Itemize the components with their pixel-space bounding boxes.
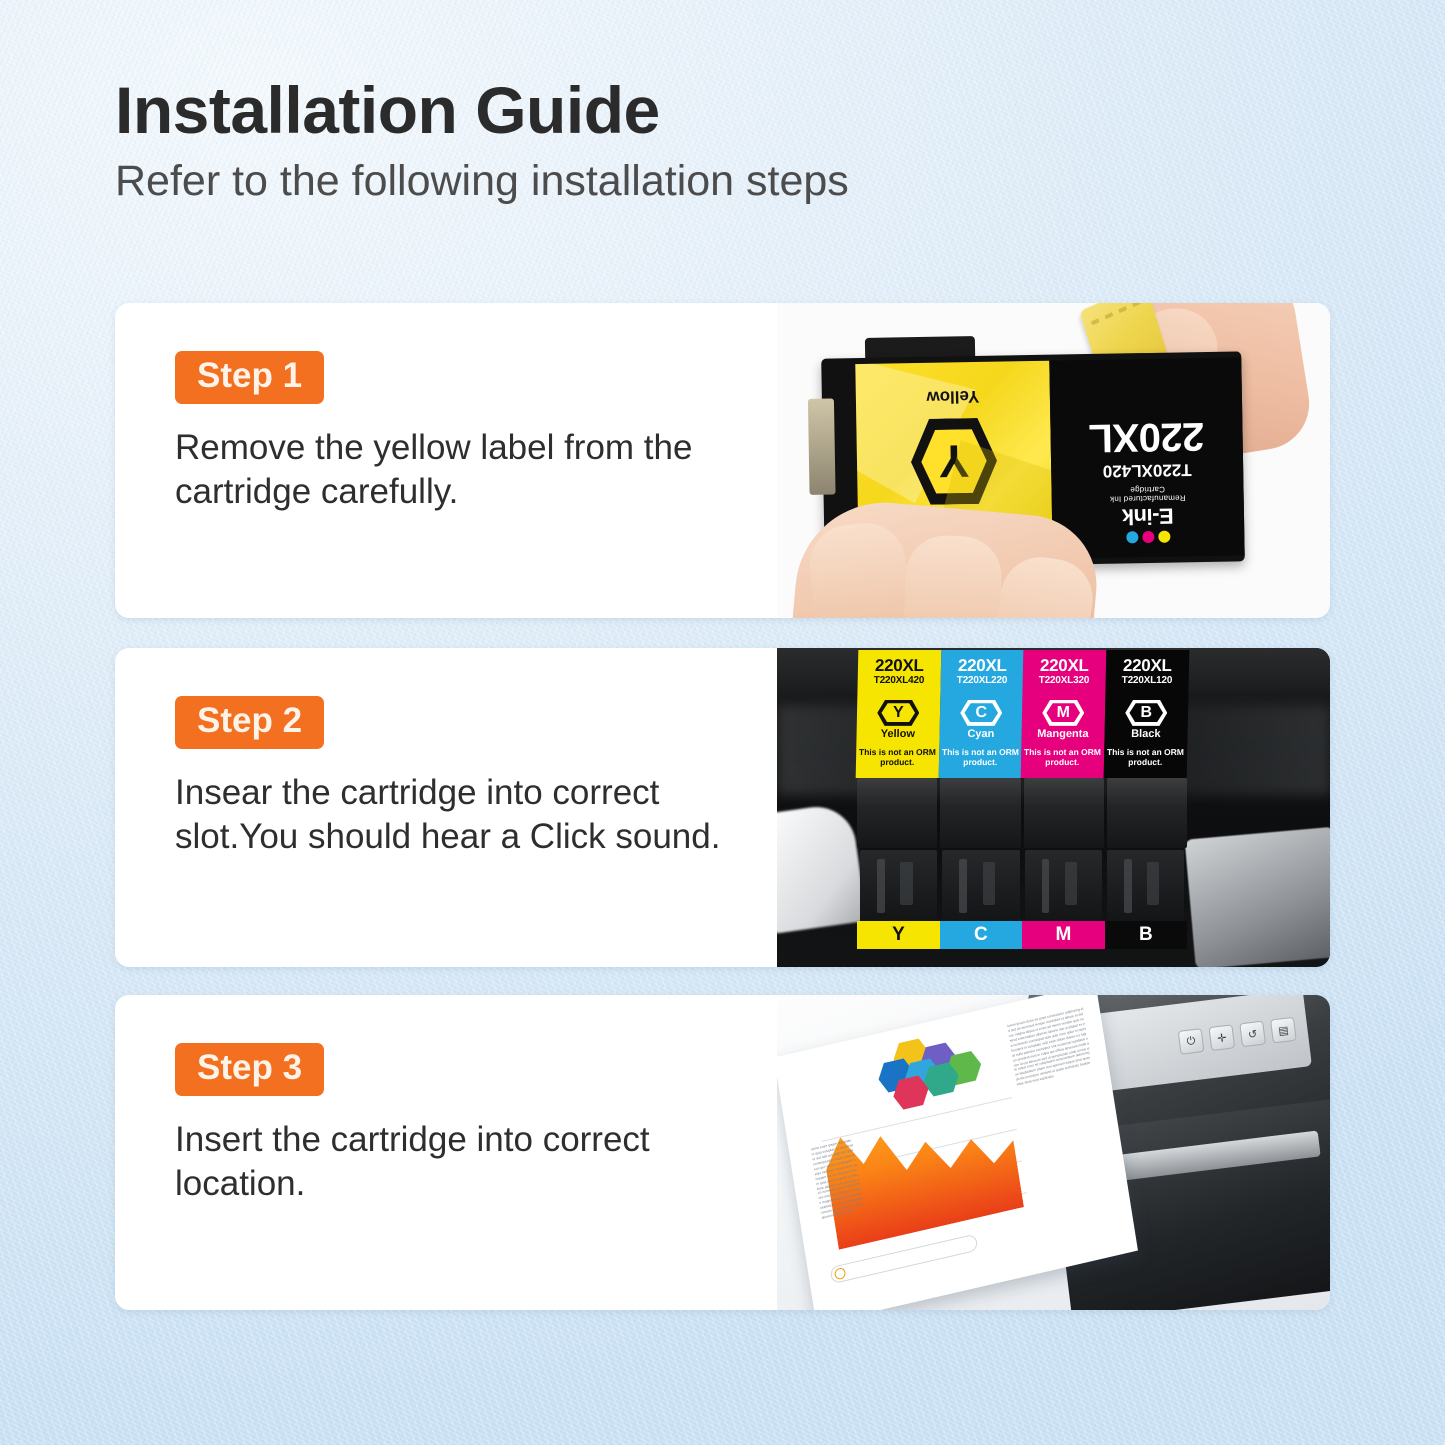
finger-icon bbox=[903, 534, 1003, 618]
color-hexagon-cluster-icon bbox=[866, 1024, 993, 1112]
step-card-1: Step 1 Remove the yellow label from the … bbox=[115, 303, 1330, 618]
installation-guide-page: Installation Guide Refer to the followin… bbox=[0, 0, 1445, 1445]
menu-icon[interactable]: ▤ bbox=[1270, 1017, 1297, 1044]
cartridge-part-number: T220XL120 bbox=[1105, 675, 1188, 686]
cartridge-color-letter: Y bbox=[921, 429, 987, 494]
cartridge-brand-name: E-ink bbox=[1100, 502, 1196, 530]
step-2-badge: Step 2 bbox=[175, 696, 324, 749]
cartridge-color-letter: B bbox=[1129, 703, 1163, 722]
cartridge-part-number: T220XL420 bbox=[858, 675, 941, 686]
cartridge-notice: This is not an ORM product. bbox=[1104, 747, 1187, 767]
cartridge-bodies-row bbox=[857, 778, 1187, 848]
cartridge-body bbox=[940, 778, 1020, 848]
navigation-pad-icon[interactable]: ✛ bbox=[1208, 1024, 1235, 1051]
cartridge-brand-tagline: Remanufactured Ink Cartridge bbox=[1100, 484, 1196, 504]
cartridge-chip-icon bbox=[808, 398, 836, 494]
page-title: Installation Guide bbox=[115, 76, 1215, 146]
slot-marker-black: B bbox=[1105, 921, 1188, 949]
cartridge-label-black: 220XL T220XL120 B Black This is not an O… bbox=[1103, 650, 1188, 778]
cartridge-color-name: Cyan bbox=[939, 728, 1022, 740]
step-3-description: Insert the cartridge into correct locati… bbox=[175, 1118, 733, 1206]
step-3-text-panel: Step 3 Insert the cartridge into correct… bbox=[115, 995, 777, 1310]
cartridge-model: 220XL bbox=[1105, 657, 1188, 675]
cartridge-model-block: T220XL420 220XL bbox=[1089, 416, 1205, 481]
cartridge-brand-block: E-ink Remanufactured Ink Cartridge bbox=[1100, 484, 1197, 544]
cartridge-body bbox=[857, 778, 937, 848]
cartridge-color-name: Black bbox=[1104, 728, 1187, 740]
cartridge-black-label: T220XL420 220XL E-ink Remanufactured Ink… bbox=[1049, 357, 1244, 558]
cartridge-label-row: 220XL T220XL420 Y Yellow This is not an … bbox=[857, 650, 1187, 778]
cartridge-color-letter: M bbox=[1046, 703, 1080, 722]
slot-marker-row: Y C M B bbox=[857, 921, 1187, 949]
cartridge-body bbox=[1107, 778, 1187, 848]
printer-metal-rail bbox=[1185, 827, 1330, 967]
black-hexagon-icon: B bbox=[1125, 700, 1168, 726]
cartridge-part-number: T220XL220 bbox=[940, 675, 1023, 686]
step-1-text-panel: Step 1 Remove the yellow label from the … bbox=[115, 303, 777, 618]
step-1-description: Remove the yellow label from the cartrid… bbox=[175, 426, 733, 514]
cartridge-label-yellow: 220XL T220XL420 Y Yellow This is not an … bbox=[856, 650, 941, 778]
cartridge-label-cyan: 220XL T220XL220 C Cyan This is not an OR… bbox=[938, 650, 1023, 778]
cartridge-model: 220XL bbox=[858, 657, 941, 675]
page-subtitle: Refer to the following installation step… bbox=[115, 156, 1215, 208]
step-3-badge: Step 3 bbox=[175, 1043, 324, 1096]
magenta-hexagon-icon: M bbox=[1042, 700, 1085, 726]
page-header: Installation Guide Refer to the followin… bbox=[115, 76, 1215, 208]
power-dot-icon bbox=[834, 1267, 846, 1280]
cartridge-model: 220XL bbox=[940, 657, 1023, 675]
slot-marker-cyan: C bbox=[940, 921, 1023, 949]
step-1-illustration: Yellow Y T220XL420 220XL bbox=[777, 303, 1330, 618]
back-icon[interactable]: ↺ bbox=[1239, 1021, 1266, 1048]
cartridge-color-name: Mangenta bbox=[1022, 728, 1105, 740]
cartridge-part-number: T220XL320 bbox=[1023, 675, 1106, 686]
yellow-hexagon-icon: Y bbox=[877, 700, 920, 726]
cartridge-color-letter: C bbox=[964, 703, 998, 722]
cartridge-color-name: Yellow bbox=[857, 728, 940, 740]
step-card-3: Step 3 Insert the cartridge into correct… bbox=[115, 995, 1330, 1310]
step-2-text-panel: Step 2 Insear the cartridge into correct… bbox=[115, 648, 777, 967]
step-2-illustration: 220XL T220XL420 Y Yellow This is not an … bbox=[777, 648, 1330, 967]
step-1-badge: Step 1 bbox=[175, 351, 324, 404]
cartridge-notice: This is not an ORM product. bbox=[856, 747, 939, 767]
cartridge-color-name: Yellow bbox=[926, 386, 979, 407]
power-icon[interactable]: ⏻ bbox=[1178, 1028, 1205, 1055]
cartridge-label-magenta: 220XL T220XL320 M Mangenta This is not a… bbox=[1021, 650, 1106, 778]
cartridge-notice: This is not an ORM product. bbox=[1021, 747, 1104, 767]
yellow-hexagon-icon: Y bbox=[910, 418, 997, 505]
cartridge-notice: This is not an ORM product. bbox=[939, 747, 1022, 767]
cartridge-model: 220XL bbox=[1089, 416, 1205, 458]
cartridge-carriage: 220XL T220XL420 Y Yellow This is not an … bbox=[857, 648, 1187, 967]
cartridge-model: 220XL bbox=[1023, 657, 1106, 675]
cmyk-dots-icon bbox=[1100, 530, 1196, 544]
cartridge-color-letter: Y bbox=[881, 703, 915, 722]
step-card-2: Step 2 Insear the cartridge into correct… bbox=[115, 648, 1330, 967]
slot-marker-magenta: M bbox=[1022, 921, 1105, 949]
cartridge-body bbox=[1024, 778, 1104, 848]
cyan-hexagon-icon: C bbox=[960, 700, 1003, 726]
slot-marker-yellow: Y bbox=[857, 921, 940, 949]
cartridge-part-number: T220XL420 bbox=[1090, 459, 1206, 481]
step-2-description: Insear the cartridge into correct slot.Y… bbox=[175, 771, 733, 859]
step-3-illustration: ⏻ ✛ ↺ ▤ bbox=[777, 995, 1330, 1310]
